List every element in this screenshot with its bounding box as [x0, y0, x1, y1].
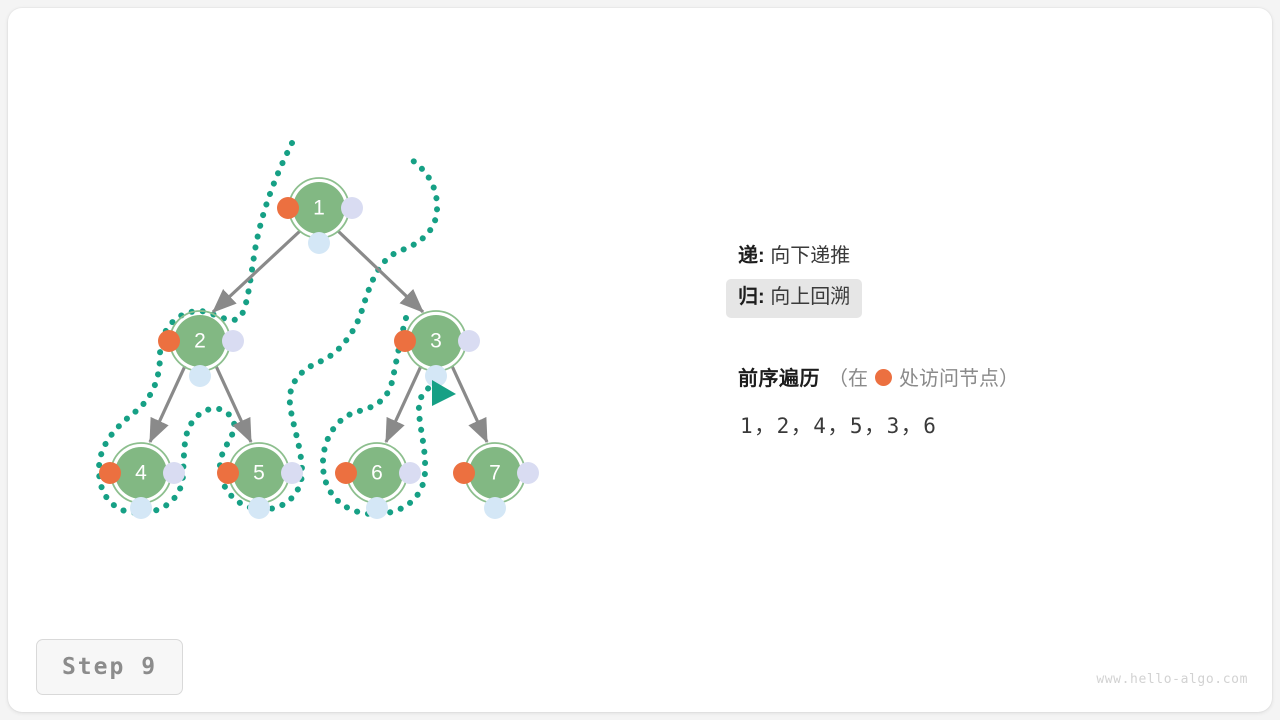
tree-node-7[interactable]: 7	[453, 443, 539, 519]
screenshot-canvas: 1 2 3 4	[0, 0, 1280, 720]
bottom-dot-icon	[366, 497, 388, 519]
visit-dot-icon	[277, 197, 299, 219]
tree-node-3[interactable]: 3	[394, 311, 480, 387]
visit-dot-icon	[158, 330, 180, 352]
visit-marker-dot-icon	[875, 369, 892, 386]
edge-1-3	[338, 231, 423, 312]
legend-recurse-text: 向下递推	[770, 245, 850, 267]
visit-dot-icon	[335, 462, 357, 484]
right-dot-icon	[458, 330, 480, 352]
edge-2-5	[216, 366, 251, 442]
right-dot-icon	[399, 462, 421, 484]
node-label: 5	[253, 462, 265, 485]
traversal-title: 前序遍历 （在 处访问节点）	[738, 362, 1019, 391]
legend-panel: 递: 向下递推 归: 向上回溯	[726, 238, 1226, 320]
legend-row-recurse: 递: 向下递推	[726, 238, 862, 277]
node-label: 1	[313, 197, 325, 220]
traversal-title-text: 前序遍历	[738, 362, 820, 391]
traversal-paren-open: （在	[828, 362, 868, 391]
visit-dot-icon	[453, 462, 475, 484]
step-badge: Step 9	[36, 639, 183, 695]
visit-dot-icon	[99, 462, 121, 484]
legend-row-return: 归: 向上回溯	[726, 279, 862, 318]
node-label: 7	[489, 462, 501, 485]
node-label: 4	[135, 462, 147, 485]
bottom-dot-icon	[308, 232, 330, 254]
traversal-sequence: 1，2，4，5，3，6	[740, 410, 937, 440]
visit-dot-icon	[394, 330, 416, 352]
traversal-paren-close: 处访问节点）	[899, 362, 1019, 391]
right-dot-icon	[517, 462, 539, 484]
legend-recurse-lead: 递:	[738, 245, 765, 267]
legend-row-return-wrap: 归: 向上回溯	[726, 279, 1226, 318]
legend-return-lead: 归:	[738, 286, 765, 308]
node-label: 3	[430, 330, 442, 353]
edge-3-7	[452, 366, 487, 442]
node-label: 2	[194, 330, 206, 353]
legend-return-text: 向上回溯	[770, 286, 850, 308]
visit-dot-icon	[217, 462, 239, 484]
node-label: 6	[371, 462, 383, 485]
right-dot-icon	[341, 197, 363, 219]
tree-node-4[interactable]: 4	[99, 443, 185, 519]
bottom-dot-icon	[189, 365, 211, 387]
bottom-dot-icon	[484, 497, 506, 519]
right-dot-icon	[222, 330, 244, 352]
right-dot-icon	[281, 462, 303, 484]
edge-1-2	[213, 231, 300, 312]
bottom-dot-icon	[248, 497, 270, 519]
traversal-cursor-icon	[432, 380, 456, 406]
bottom-dot-icon	[130, 497, 152, 519]
watermark: www.hello-algo.com	[1096, 672, 1248, 687]
right-dot-icon	[163, 462, 185, 484]
legend-row-recurse-wrap: 递: 向下递推	[726, 238, 1226, 277]
tree-node-5[interactable]: 5	[217, 443, 303, 519]
edge-3-6	[386, 366, 421, 442]
edge-2-4	[150, 366, 185, 442]
binary-tree-diagram: 1 2 3 4	[0, 0, 1280, 720]
